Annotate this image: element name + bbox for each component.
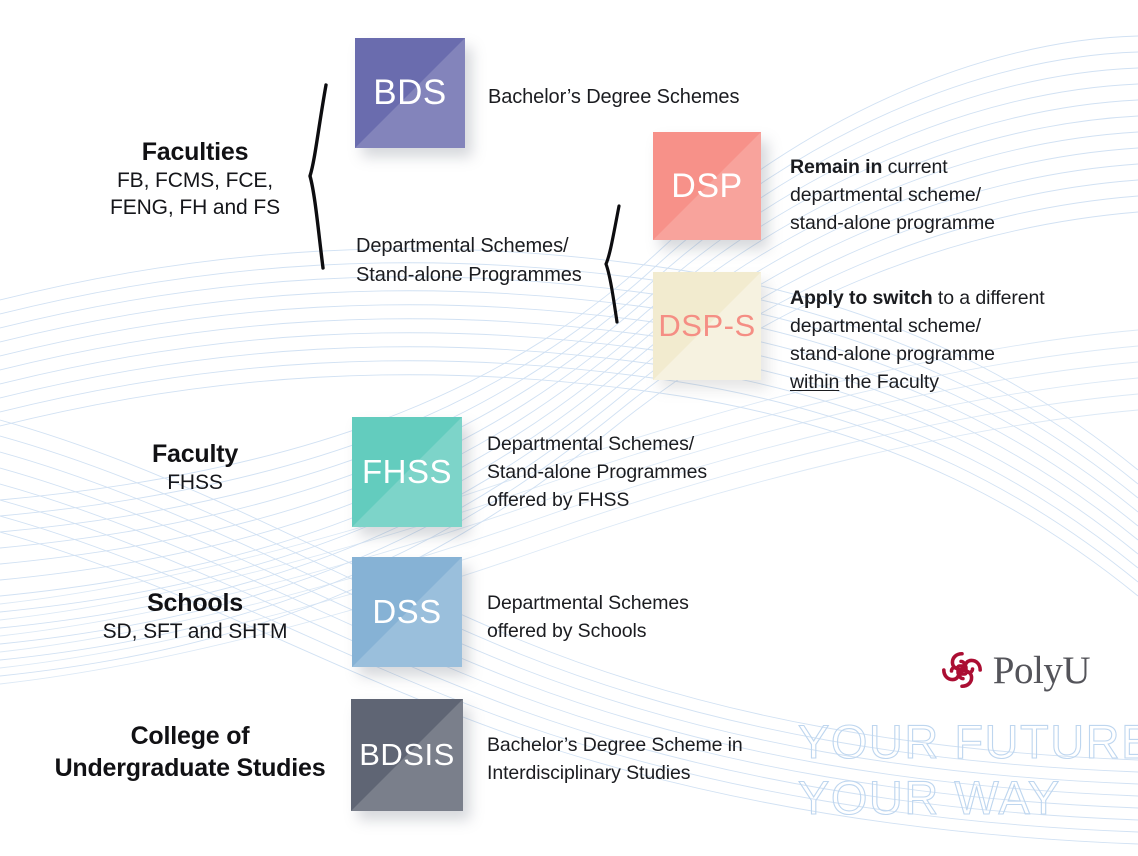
description-dsp-s-rest: to a different [933, 287, 1045, 309]
tile-bdsis[interactable]: BDSIS [351, 699, 463, 811]
description-dsp-s-line-3: stand-alone programme [790, 340, 1045, 368]
tile-bds[interactable]: BDS [355, 38, 465, 148]
description-fhss-line-2: Stand-alone Programmes [487, 458, 707, 486]
description-dsp-s-line-2: departmental scheme/ [790, 312, 1045, 340]
polyu-knot-icon [938, 648, 986, 692]
tile-dsp-s-code: DSP-S [658, 308, 755, 344]
infographic-canvas: Faculties FB, FCMS, FCE, FENG, FH and FS… [0, 0, 1138, 856]
label-departmental-schemes-line-1: Departmental Schemes/ [356, 232, 582, 261]
tagline-line-2: YOUR WAY [798, 770, 1061, 825]
polyu-wordmark: PolyU [993, 651, 1090, 690]
description-fhss: Departmental Schemes/ Stand-alone Progra… [487, 430, 707, 514]
description-bds: Bachelor’s Degree Schemes [488, 83, 739, 112]
description-dsp-line-1: Remain in current [790, 153, 995, 181]
description-dsp-s-bold: Apply to switch [790, 287, 933, 309]
description-fhss-line-1: Departmental Schemes/ [487, 430, 707, 458]
tile-dsp-code: DSP [671, 167, 742, 206]
category-faculties-title: Faculties [60, 136, 330, 168]
description-dsp-s-line4-rest: the Faculty [839, 371, 939, 393]
description-dsp-rest: current [882, 156, 947, 178]
description-dsp-line-3: stand-alone programme [790, 209, 995, 237]
tile-bdsis-code: BDSIS [359, 737, 455, 773]
description-dsp: Remain in current departmental scheme/ s… [790, 153, 995, 237]
category-schools-subline-1: SD, SFT and SHTM [55, 619, 335, 646]
description-fhss-line-3: offered by FHSS [487, 486, 707, 514]
bracket-departmental-schemes [598, 203, 632, 325]
label-departmental-schemes: Departmental Schemes/ Stand-alone Progra… [356, 232, 582, 290]
category-schools-title: Schools [55, 587, 335, 619]
category-faculties-subline-2: FENG, FH and FS [60, 195, 330, 222]
description-dsp-s-underline: within [790, 371, 839, 393]
description-dsp-s-line-1: Apply to switch to a different [790, 284, 1045, 312]
description-dss: Departmental Schemes offered by Schools [487, 589, 689, 645]
description-bds-text: Bachelor’s Degree Schemes [488, 86, 739, 108]
tile-dss-code: DSS [372, 593, 441, 631]
description-bdsis-line-2: Interdisciplinary Studies [487, 759, 743, 787]
category-faculty-fhss: Faculty FHSS [60, 438, 330, 497]
category-college: College of Undergraduate Studies [25, 720, 355, 784]
category-faculty-fhss-title: Faculty [60, 438, 330, 470]
tile-fhss[interactable]: FHSS [352, 417, 462, 527]
category-faculties: Faculties FB, FCMS, FCE, FENG, FH and FS [60, 136, 330, 222]
description-dss-line-1: Departmental Schemes [487, 589, 689, 617]
label-departmental-schemes-line-2: Stand-alone Programmes [356, 261, 582, 290]
tile-fhss-code: FHSS [362, 453, 452, 491]
description-dsp-s-line-4: within the Faculty [790, 368, 1045, 396]
tile-dss[interactable]: DSS [352, 557, 462, 667]
tile-dsp-s[interactable]: DSP-S [653, 272, 761, 380]
description-dsp-s: Apply to switch to a different departmen… [790, 284, 1045, 396]
tagline-line-1: YOUR FUTURE [798, 714, 1138, 769]
tile-bds-code: BDS [373, 73, 446, 113]
description-bdsis-line-1: Bachelor’s Degree Scheme in [487, 731, 743, 759]
category-college-title-line-1: College of [25, 720, 355, 752]
branding-block: PolyU YOUR FUTURE YOUR WAY [790, 640, 1120, 830]
category-faculty-fhss-subline-1: FHSS [60, 470, 330, 497]
description-dsp-line-2: departmental scheme/ [790, 181, 995, 209]
polyu-logo-lockup: PolyU [938, 648, 1090, 692]
tile-dsp[interactable]: DSP [653, 132, 761, 240]
description-dsp-bold: Remain in [790, 156, 882, 178]
description-bdsis: Bachelor’s Degree Scheme in Interdiscipl… [487, 731, 743, 787]
category-schools: Schools SD, SFT and SHTM [55, 587, 335, 646]
description-dss-line-2: offered by Schools [487, 617, 689, 645]
category-faculties-subline-1: FB, FCMS, FCE, [60, 168, 330, 195]
category-college-title-line-2: Undergraduate Studies [25, 752, 355, 784]
